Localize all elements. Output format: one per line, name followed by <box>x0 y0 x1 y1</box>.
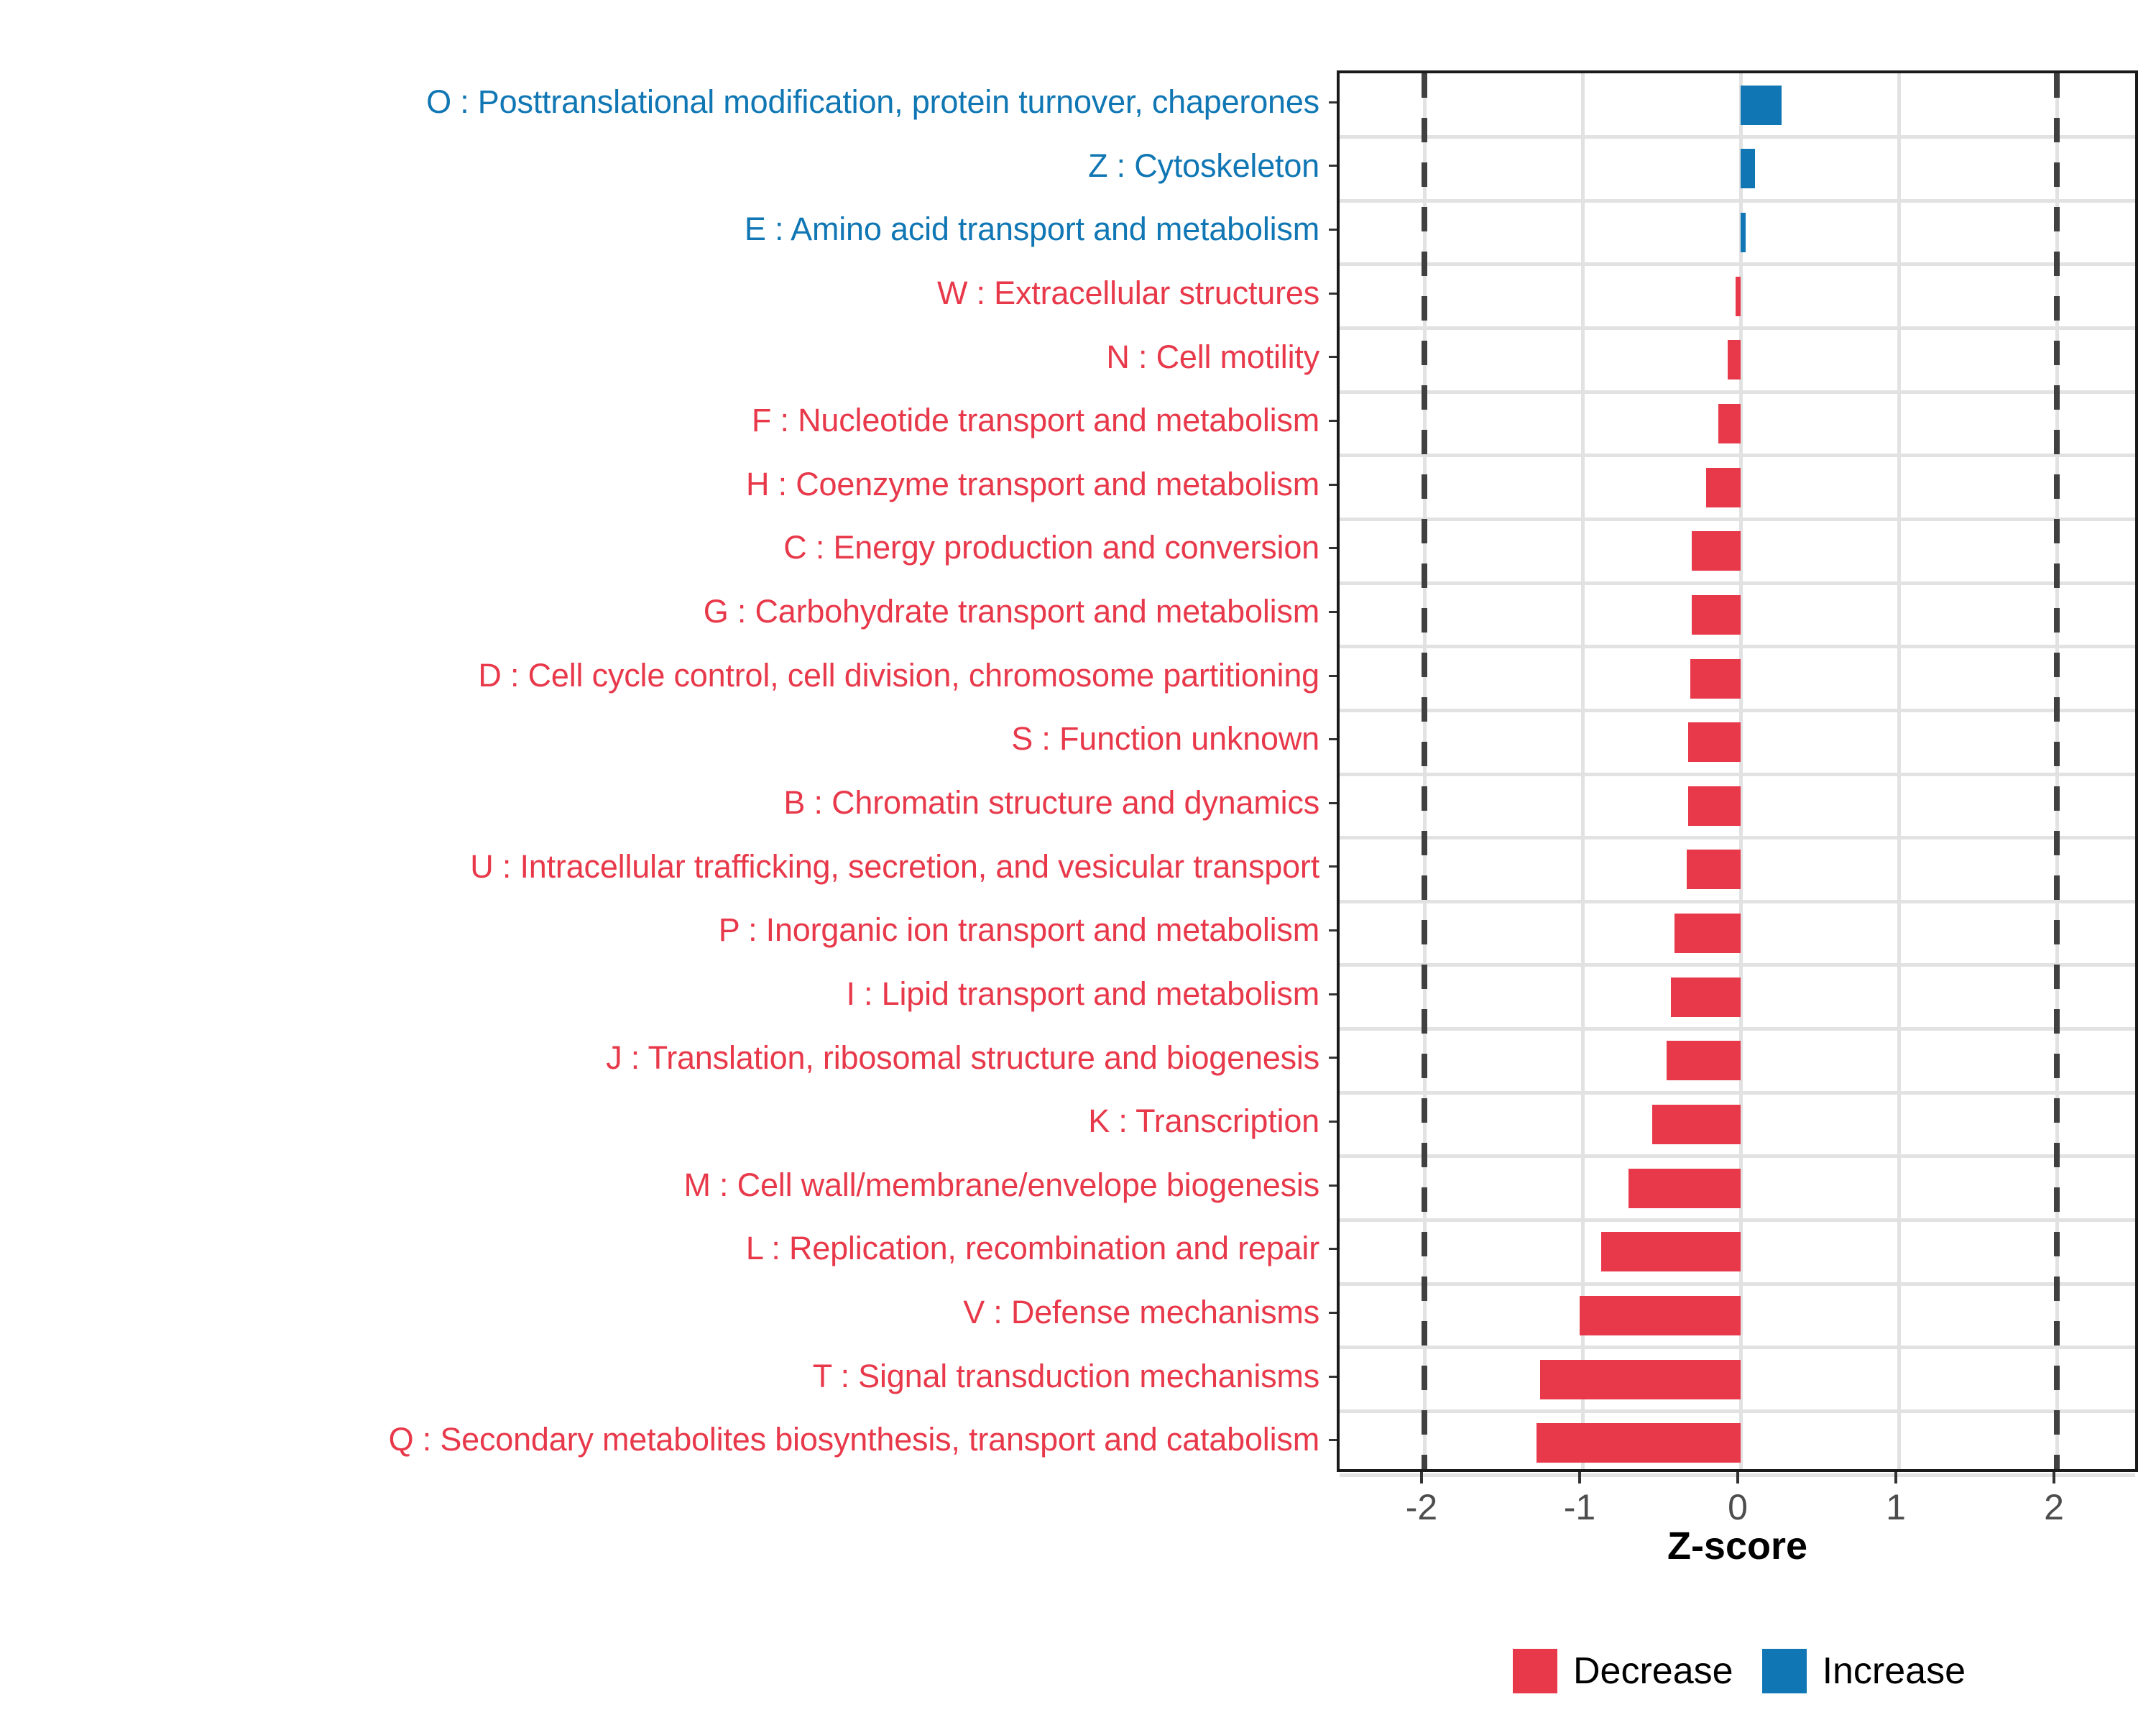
gridline-horizontal <box>1340 1154 2135 1158</box>
bar-n <box>1728 340 1741 379</box>
legend-label: Increase <box>1823 1650 1966 1693</box>
category-label: Q : Secondary metabolites biosynthesis, … <box>389 1408 1319 1472</box>
bar-k <box>1652 1105 1741 1144</box>
cog-functional-category-zscore-chart: O : Posttranslational modification, prot… <box>0 0 2156 1725</box>
gridline-horizontal <box>1340 1282 2135 1286</box>
y-tick-mark <box>1329 738 1337 740</box>
y-tick-mark <box>1329 356 1337 358</box>
reference-line-dashed <box>1422 73 1427 1469</box>
x-tick-mark <box>2053 1472 2055 1483</box>
legend-label: Decrease <box>1573 1650 1733 1693</box>
bar-m <box>1628 1169 1741 1208</box>
category-axis-labels: O : Posttranslational modification, prot… <box>0 70 1328 1472</box>
gridline-horizontal <box>1340 645 2135 648</box>
y-tick-mark <box>1329 802 1337 804</box>
y-tick-mark <box>1329 293 1337 295</box>
gridline-horizontal <box>1340 773 2135 776</box>
bar-o <box>1741 86 1782 125</box>
y-tick-mark <box>1329 229 1337 231</box>
bar-s <box>1688 722 1741 762</box>
y-tick-mark <box>1329 547 1337 549</box>
y-tick-mark <box>1329 1376 1337 1378</box>
x-tick-mark <box>1736 1472 1739 1483</box>
category-label: T : Signal transduction mechanisms <box>813 1345 1319 1409</box>
bar-w <box>1736 277 1741 316</box>
gridline-horizontal <box>1340 454 2135 457</box>
y-tick-mark <box>1329 101 1337 103</box>
y-tick-mark <box>1329 484 1337 486</box>
gridline-horizontal <box>1340 517 2135 521</box>
gridline-horizontal <box>1340 963 2135 967</box>
y-tick-mark <box>1329 165 1337 167</box>
gridline-horizontal <box>1340 1091 2135 1095</box>
y-tick-mark <box>1329 420 1337 422</box>
legend-item-decrease[interactable]: Decrease <box>1513 1649 1733 1693</box>
x-tick-mark <box>1894 1472 1897 1483</box>
gridline-horizontal <box>1340 135 2135 139</box>
category-label: F : Nucleotide transport and metabolism <box>752 389 1319 453</box>
category-label: V : Defense mechanisms <box>963 1281 1319 1345</box>
category-label: W : Extracellular structures <box>937 262 1319 326</box>
category-label: G : Carbohydrate transport and metabolis… <box>704 580 1319 644</box>
category-label: J : Translation, ribosomal structure and… <box>606 1026 1319 1090</box>
category-label: E : Amino acid transport and metabolism <box>745 198 1319 262</box>
category-label: P : Inorganic ion transport and metaboli… <box>719 898 1319 962</box>
bar-j <box>1667 1041 1741 1080</box>
gridline-horizontal <box>1340 1218 2135 1222</box>
y-tick-mark <box>1329 1439 1337 1441</box>
bar-g <box>1692 595 1741 635</box>
category-label: M : Cell wall/membrane/envelope biogenes… <box>683 1154 1319 1218</box>
bar-e <box>1741 213 1746 252</box>
gridline-horizontal <box>1340 199 2135 203</box>
gridline-horizontal <box>1340 1027 2135 1031</box>
legend-swatch-decrease <box>1513 1649 1557 1693</box>
bar-d <box>1690 659 1741 699</box>
bar-p <box>1674 914 1741 953</box>
y-tick-mark <box>1329 611 1337 613</box>
legend-swatch-increase <box>1762 1649 1807 1693</box>
y-tick-mark <box>1329 993 1337 995</box>
bar-t <box>1540 1360 1741 1399</box>
category-label: H : Coenzyme transport and metabolism <box>746 453 1319 517</box>
bar-z <box>1741 149 1755 188</box>
bar-v <box>1580 1296 1741 1335</box>
gridline-horizontal <box>1340 262 2135 266</box>
legend-item-increase[interactable]: Increase <box>1762 1649 1966 1693</box>
x-tick-label: 1 <box>1886 1486 1906 1528</box>
bar-b <box>1688 786 1741 826</box>
y-tick-mark <box>1329 865 1337 868</box>
bar-u <box>1687 850 1741 889</box>
x-axis-title: Z-score <box>1337 1524 2138 1568</box>
y-tick-mark <box>1329 675 1337 677</box>
chart-legend: DecreaseIncrease <box>1513 1642 1966 1700</box>
gridline-horizontal <box>1340 900 2135 903</box>
category-label: B : Chromatin structure and dynamics <box>783 771 1319 835</box>
y-tick-mark <box>1329 1312 1337 1314</box>
bar-c <box>1692 531 1741 571</box>
bar-q <box>1537 1423 1741 1463</box>
category-label: N : Cell motility <box>1106 326 1319 390</box>
x-tick-mark <box>1578 1472 1581 1483</box>
category-label: S : Function unknown <box>1011 707 1319 771</box>
plot-panel <box>1337 70 2138 1472</box>
reference-line-dashed <box>2054 73 2060 1469</box>
gridline-horizontal <box>1340 1345 2135 1349</box>
gridline-horizontal <box>1340 326 2135 330</box>
bar-l <box>1601 1232 1741 1271</box>
category-label: L : Replication, recombination and repai… <box>746 1217 1319 1281</box>
x-tick-label: 0 <box>1728 1486 1748 1528</box>
y-tick-mark <box>1329 1184 1337 1187</box>
bar-f <box>1718 404 1741 443</box>
gridline-horizontal <box>1340 581 2135 585</box>
plot-area <box>1340 73 2135 1469</box>
category-label: I : Lipid transport and metabolism <box>846 962 1319 1026</box>
category-label: D : Cell cycle control, cell division, c… <box>478 644 1319 708</box>
category-label: K : Transcription <box>1088 1090 1319 1154</box>
category-label: C : Energy production and conversion <box>783 516 1319 580</box>
bar-h <box>1706 468 1741 507</box>
gridline-horizontal <box>1340 390 2135 394</box>
bar-i <box>1671 977 1741 1017</box>
category-label: O : Posttranslational modification, prot… <box>426 70 1319 134</box>
gridline-vertical <box>1897 73 1901 1469</box>
x-tick-label: 2 <box>2044 1486 2064 1528</box>
gridline-horizontal <box>1340 836 2135 839</box>
x-tick-mark <box>1420 1472 1423 1483</box>
category-label: U : Intracellular trafficking, secretion… <box>470 835 1319 899</box>
gridline-horizontal <box>1340 1409 2135 1413</box>
y-tick-mark <box>1329 1248 1337 1250</box>
x-tick-label: -2 <box>1406 1486 1437 1528</box>
x-tick-label: -1 <box>1564 1486 1595 1528</box>
category-label: Z : Cytoskeleton <box>1088 134 1319 198</box>
gridline-vertical <box>1581 73 1585 1469</box>
y-tick-mark <box>1329 1057 1337 1059</box>
y-tick-mark <box>1329 929 1337 931</box>
y-tick-mark <box>1329 1121 1337 1123</box>
gridline-horizontal <box>1340 709 2135 712</box>
